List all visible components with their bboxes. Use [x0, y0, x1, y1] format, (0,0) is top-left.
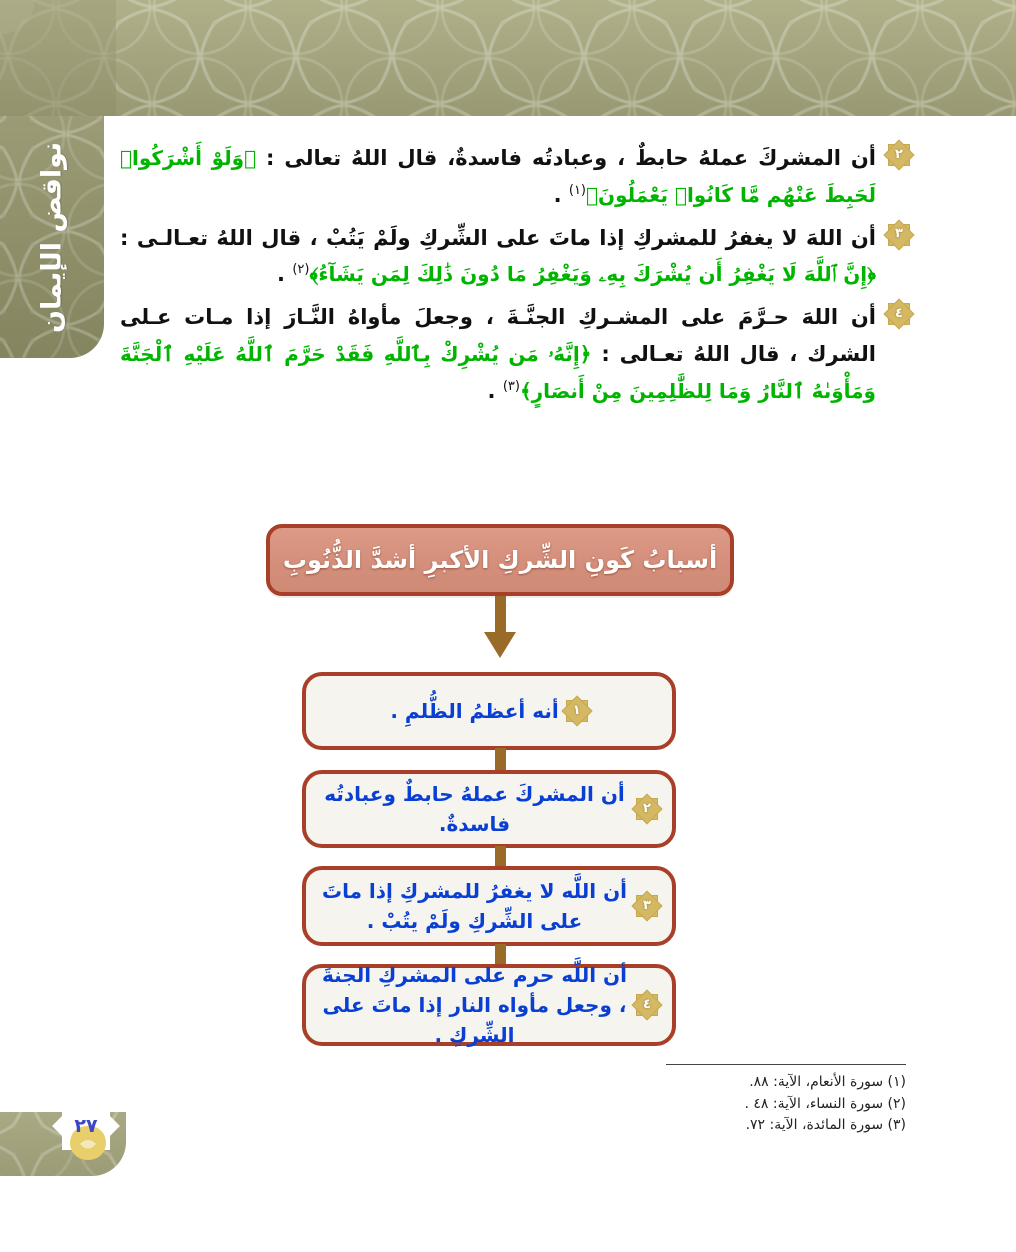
footnote-line: (١) سورة الأنعام، الآية: ٨٨. [666, 1072, 906, 1094]
band-left-shade [0, 0, 116, 116]
paragraph-text: أن اللهَ لا يغفرُ للمشركِ إذا ماتَ على ا… [120, 226, 876, 250]
side-tab-label: نواقض الإيمان [0, 116, 104, 358]
paragraph-tail: . [277, 262, 292, 286]
page-number-badge: ٢٧ [62, 1102, 124, 1164]
node-number-badge: ١ [566, 700, 588, 722]
islamic-pattern-top [0, 0, 1016, 116]
item-number-badge: ٢ [888, 144, 910, 166]
flowchart-title-box: أسبابُ كَونِ الشِّركِ الأكبرِ أشدَّ الذُ… [266, 524, 734, 596]
footnote-line: (٢) سورة النساء، الآية: ٤٨ . [666, 1094, 906, 1116]
footnote-marker: (١) [569, 183, 586, 198]
paragraph-tail: . [488, 379, 503, 403]
paragraph-tail: . [554, 183, 569, 207]
footnote-marker: (٣) [503, 379, 520, 394]
node-label: أن اللَّه حرم على المشركِ الجنةَ ، وجعل … [320, 960, 629, 1050]
item-number-badge: ٤ [888, 303, 910, 325]
main-text-column: ٢ أن المشركَ عملهُ حابطٌ ، وعبادتُه فاسد… [120, 140, 910, 415]
flowchart-title-label: أسبابُ كَونِ الشِّركِ الأكبرِ أشدَّ الذُ… [283, 546, 717, 574]
node-number-badge: ٤ [636, 994, 658, 1016]
numbered-paragraph: ٢ أن المشركَ عملهُ حابطٌ ، وعبادتُه فاسد… [120, 140, 910, 214]
flowchart-node: ٤ أن اللَّه حرم على المشركِ الجنةَ ، وجع… [302, 964, 676, 1046]
arrow-stem [495, 596, 506, 636]
quran-verse: ﴿إِنَّ ٱللَّهَ لَا يَغْفِرُ أَن يُشْرَكَ… [309, 262, 876, 286]
footnotes-block: (١) سورة الأنعام، الآية: ٨٨. (٢) سورة ال… [666, 1064, 906, 1137]
paragraph-text: أن المشركَ عملهُ حابطٌ ، وعبادتُه فاسدةٌ… [256, 146, 876, 170]
flowchart-node: ٢ أن المشركَ عملهُ حابطٌ وعبادتُه فاسدةٌ… [302, 770, 676, 848]
node-number-badge: ٣ [636, 895, 658, 917]
flowchart-node: ١ أنه أعظمُ الظُّلمِ . [302, 672, 676, 750]
page-number-label: ٢٧ [62, 1102, 110, 1150]
numbered-paragraph: ٤ أن اللهَ حـرَّمَ على المشـركِ الجنَّـة… [120, 299, 910, 409]
footnote-divider [666, 1064, 906, 1065]
flowchart-node: ٣ أن اللَّه لا يغفرُ للمشركِ إذا ماتَ عل… [302, 866, 676, 946]
footnote-marker: (٢) [292, 262, 309, 277]
node-label: أن المشركَ عملهُ حابطٌ وعبادتُه فاسدةٌ. [320, 779, 629, 839]
side-tab-chapter: نواقض الإيمان [0, 116, 104, 358]
node-connector [495, 748, 506, 772]
node-label: أنه أعظمُ الظُّلمِ . [390, 696, 558, 726]
node-connector [495, 846, 506, 868]
top-decorative-band [0, 0, 1016, 116]
numbered-paragraph: ٣ أن اللهَ لا يغفرُ للمشركِ إذا ماتَ على… [120, 220, 910, 294]
node-label: أن اللَّه لا يغفرُ للمشركِ إذا ماتَ على … [320, 876, 629, 936]
item-number-badge: ٣ [888, 224, 910, 246]
arrow-head-icon [484, 632, 516, 658]
footnote-line: (٣) سورة المائدة، الآية: ٧٢. [666, 1115, 906, 1137]
node-number-badge: ٢ [636, 798, 658, 820]
